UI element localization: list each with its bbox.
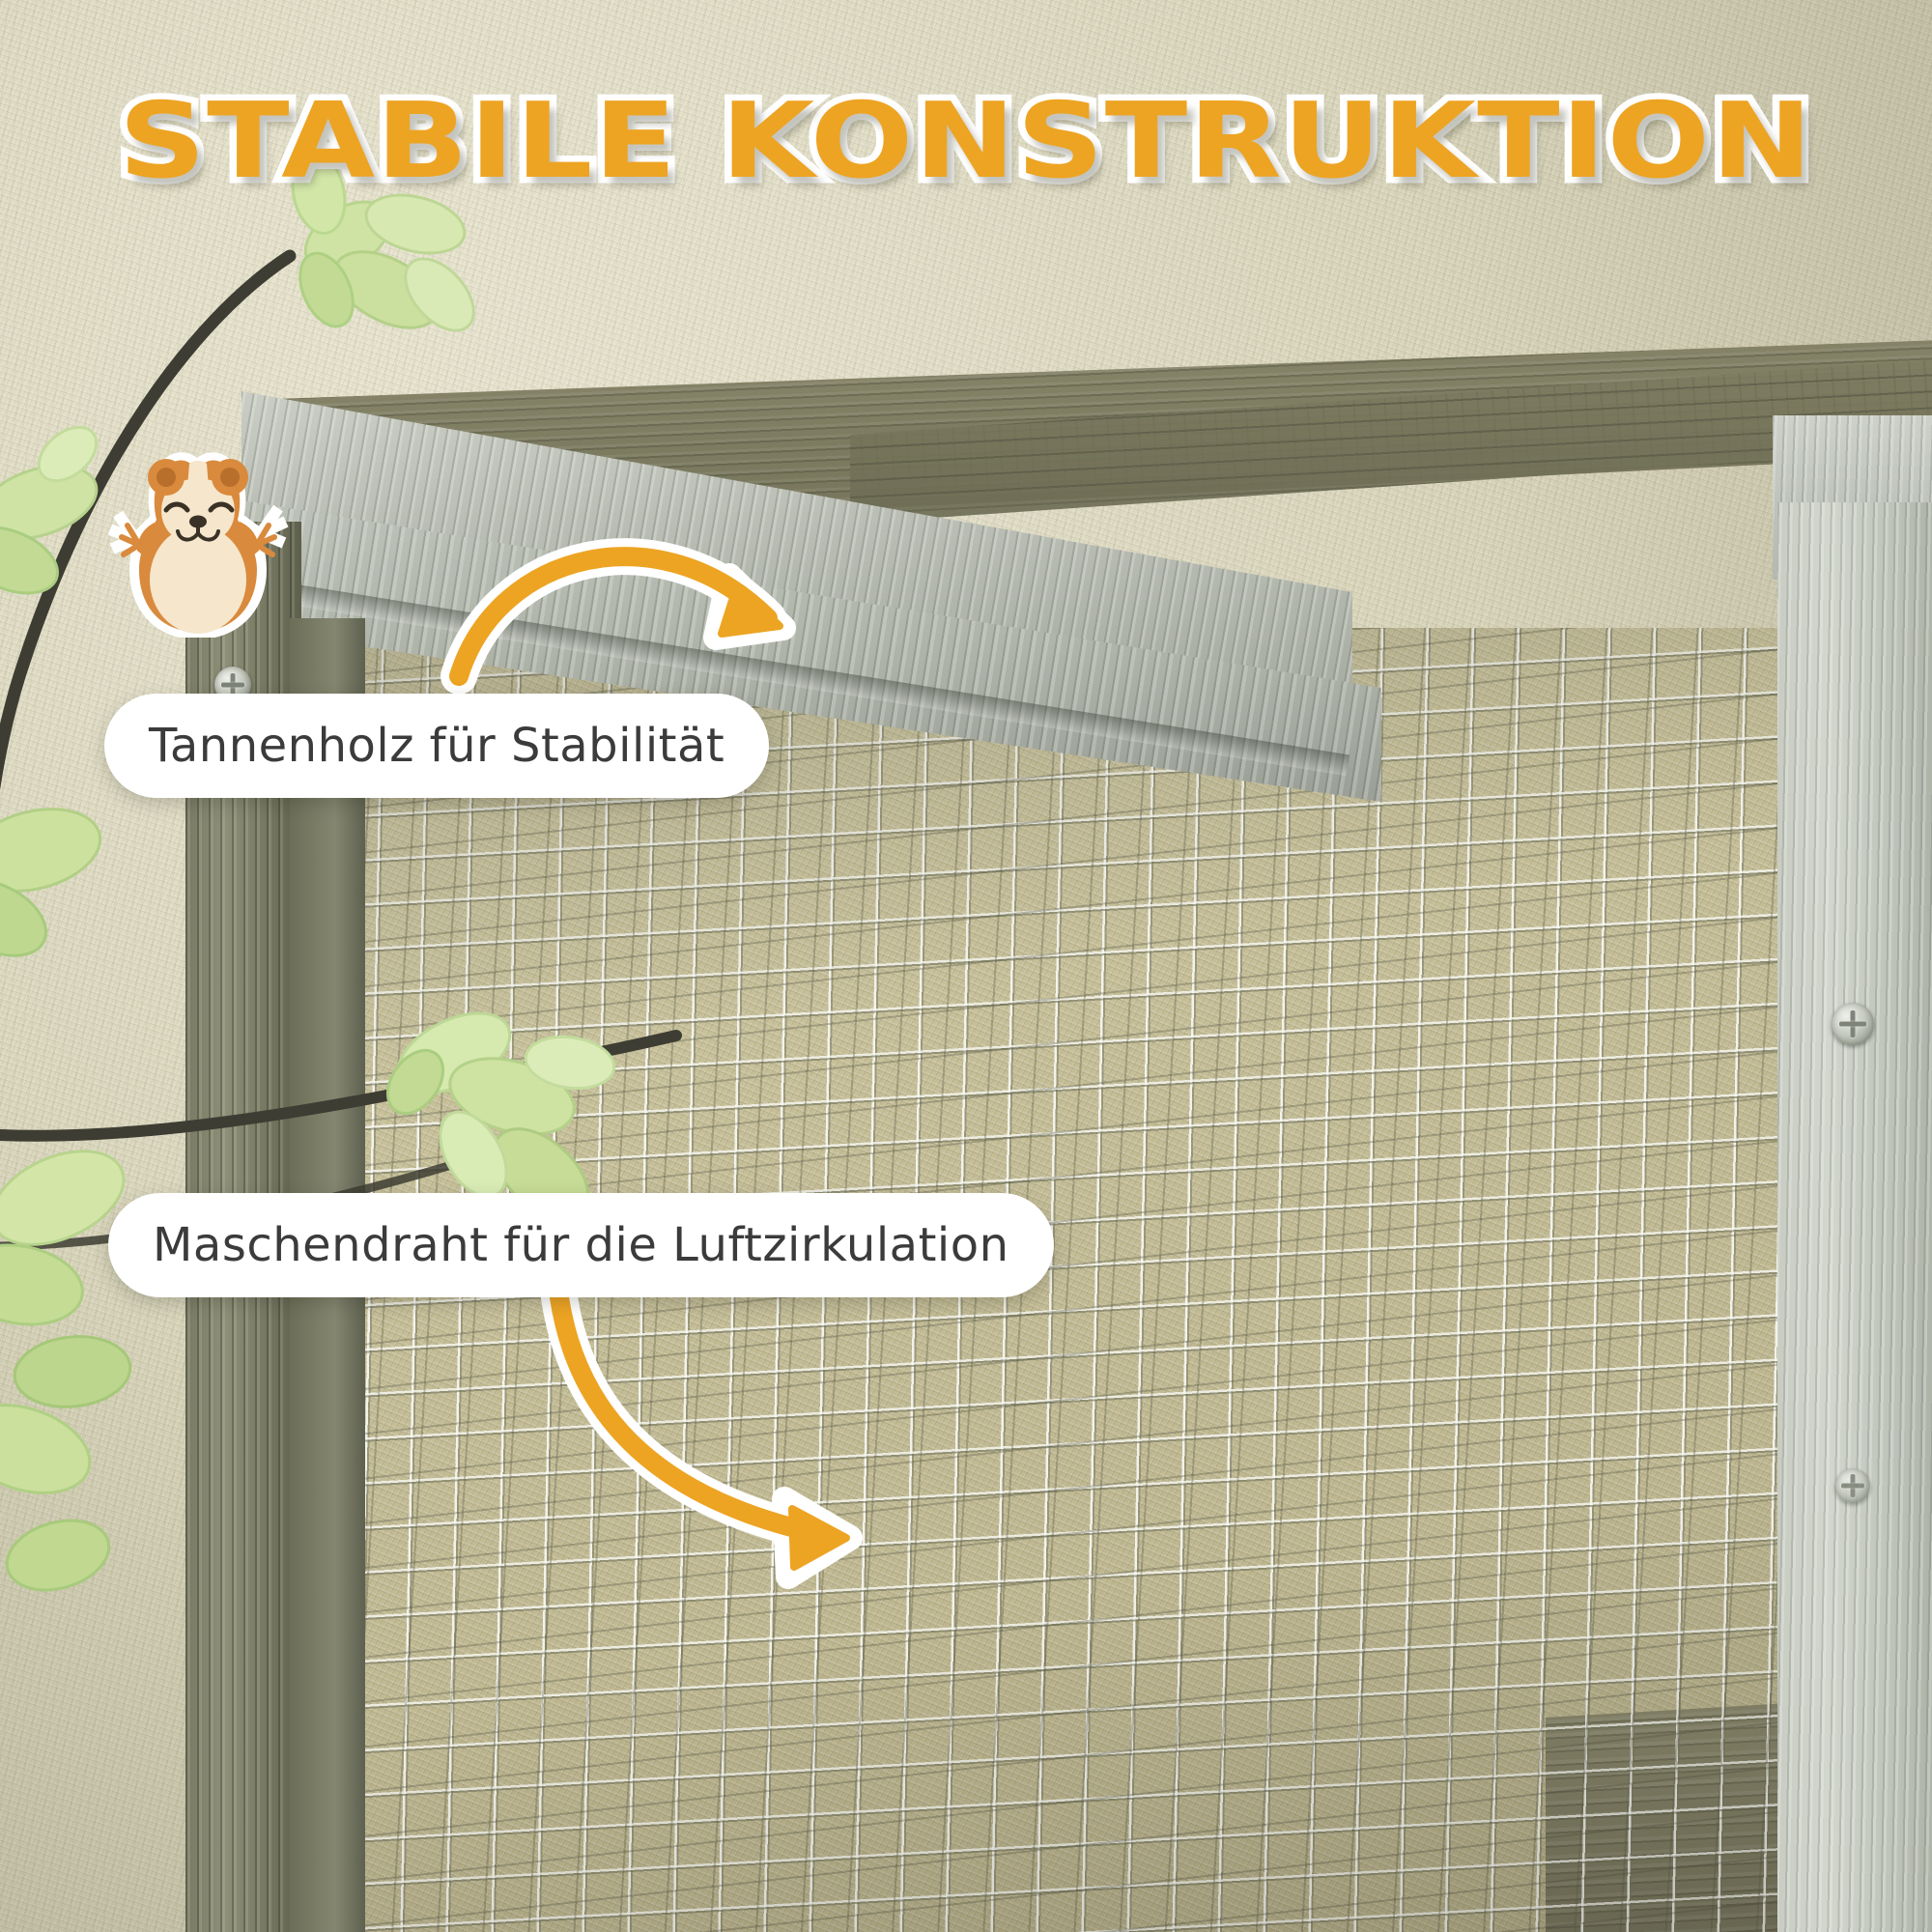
wooden-hutch — [0, 0, 1932, 1932]
hamster-mascot-icon — [97, 425, 299, 638]
callout-mesh-label: Maschendraht für die Luftzirkulation — [108, 1193, 1054, 1297]
right-frame-post-grain — [1777, 502, 1932, 1932]
hamster-forehead-stripe — [187, 461, 209, 487]
callout-wood-arrow-icon — [440, 483, 845, 705]
product-feature-image: STABILE KONSTRUKTION — [0, 0, 1932, 1932]
screw-right-upper-icon — [1832, 1003, 1874, 1045]
hamster-belly — [150, 526, 246, 634]
page-title: STABILE KONSTRUKTION — [0, 81, 1932, 202]
screw-right-lower-icon — [1835, 1468, 1870, 1503]
callout-wood-label: Tannenholz für Stabilität — [104, 694, 769, 798]
